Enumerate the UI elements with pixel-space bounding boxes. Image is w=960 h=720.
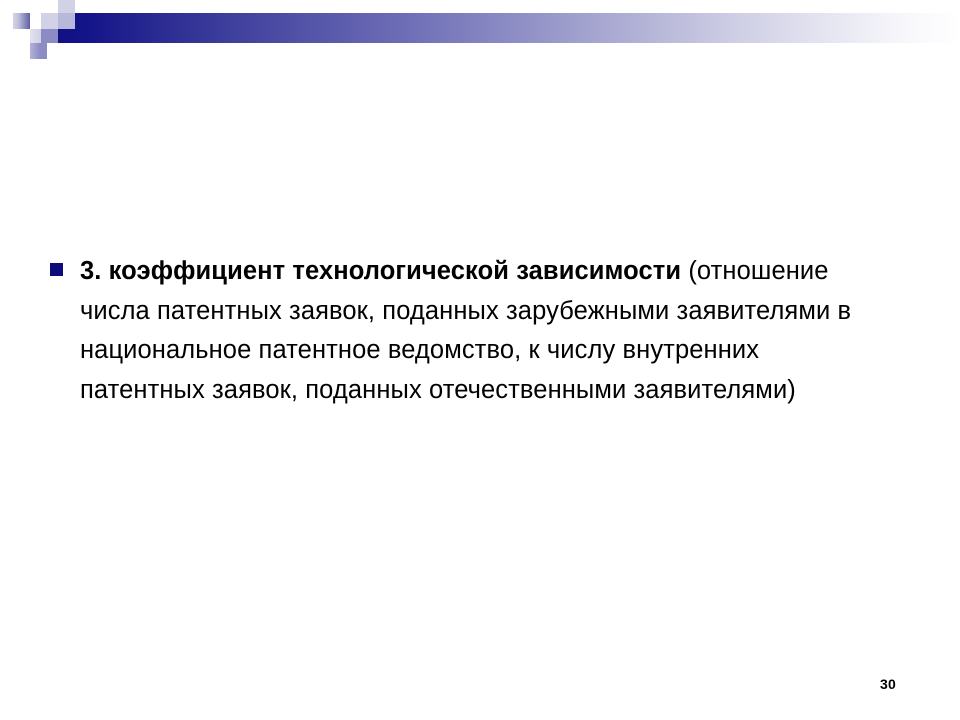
- bullet-list-item: 3. коэффициент технологической зависимос…: [50, 252, 880, 410]
- slide-body: 3. коэффициент технологической зависимос…: [50, 252, 880, 410]
- square-bullet-icon: [50, 263, 63, 276]
- decorative-square-pale-top: [58, 0, 75, 13]
- decorative-square-pale-upper: [41, 13, 58, 29]
- slide-root: 3. коэффициент технологической зависимос…: [0, 0, 960, 720]
- header-gradient-band: [30, 13, 960, 43]
- slide-header-decoration: [0, 0, 960, 75]
- decorative-square-mid-mid: [41, 29, 58, 43]
- header-band-left-fade: [0, 0, 40, 75]
- page-number: 30: [880, 676, 896, 692]
- definition-term: 3. коэффициент технологической зависимос…: [80, 257, 681, 285]
- bullet-item-text: 3. коэффициент технологической зависимос…: [80, 252, 880, 410]
- decorative-square-light-upper: [58, 13, 75, 29]
